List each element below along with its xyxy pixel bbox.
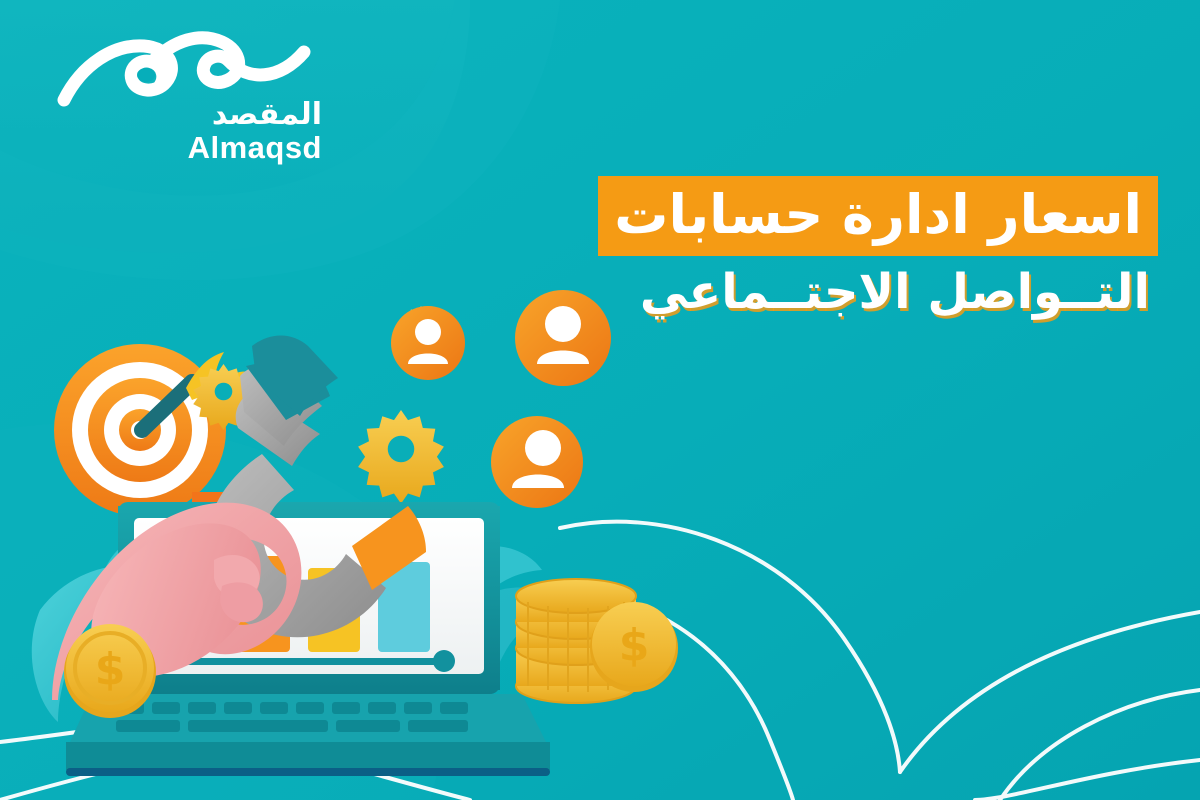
coin-stack-icon: $ xyxy=(516,579,678,703)
brand-logo[interactable]: المقصد Almaqsd xyxy=(52,22,332,182)
svg-text:$: $ xyxy=(619,620,650,671)
headline-line2: التــواصل الاجتــماعي xyxy=(598,266,1158,320)
logo-arabic-wordmark: المقصد xyxy=(212,100,322,130)
poster-canvas: المقصد Almaqsd اسعار ادارة حسابات التــو… xyxy=(0,0,1200,800)
user-avatar-icon xyxy=(391,306,465,380)
headline-block: اسعار ادارة حسابات التــواصل الاجتــماعي xyxy=(598,176,1158,320)
coin-icon: $ xyxy=(64,624,156,718)
illustration: $ xyxy=(0,270,680,800)
user-avatar-icon xyxy=(491,416,583,508)
headline-line1: اسعار ادارة حسابات xyxy=(598,176,1158,256)
svg-text:$: $ xyxy=(95,644,126,695)
logo-latin-wordmark: Almaqsd xyxy=(188,132,322,163)
gear-icon xyxy=(358,410,444,504)
user-avatar-icon xyxy=(515,290,611,386)
